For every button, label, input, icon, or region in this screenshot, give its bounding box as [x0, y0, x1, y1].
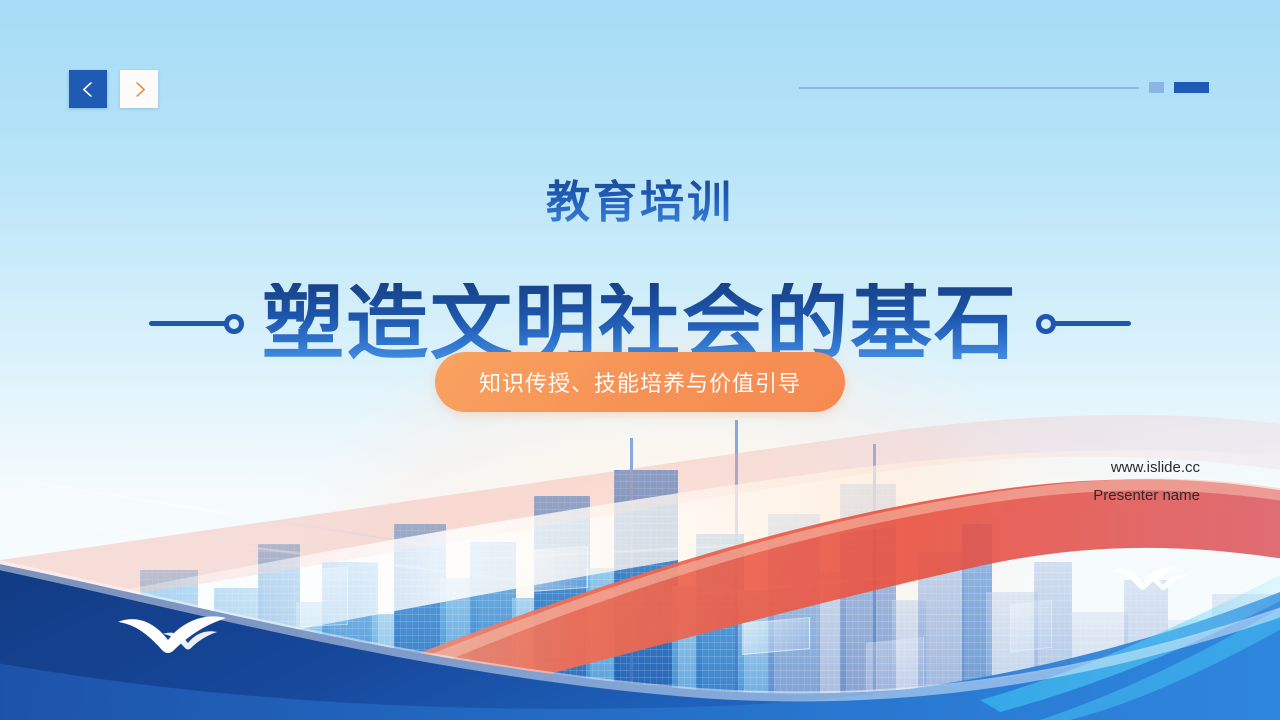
presenter-name: Presenter name: [1093, 481, 1200, 511]
decoration-right: [1036, 314, 1131, 334]
header-square-small: [1149, 82, 1164, 93]
slide-navigation: [69, 70, 158, 108]
chevron-right-icon: [132, 81, 147, 98]
header-rule-line: [799, 87, 1139, 89]
chevron-left-icon: [81, 81, 96, 98]
decoration-line-left: [149, 321, 227, 326]
slide-canvas: 教育培训 塑造文明社会的基石 知识传授、技能培养与价值引导 www.islide…: [0, 0, 1280, 720]
seagull-icon: [1138, 570, 1192, 594]
subtitle-badge: 知识传授、技能培养与价值引导: [435, 352, 845, 412]
seagull-icon: [158, 626, 222, 654]
eyebrow-title: 教育培训: [0, 166, 1280, 230]
next-slide-button[interactable]: [120, 70, 158, 108]
decoration-line-right: [1053, 321, 1131, 326]
header-square-large: [1174, 82, 1209, 93]
decoration-ring-left: [224, 314, 244, 334]
credits-block: www.islide.cc Presenter name: [1093, 455, 1200, 511]
previous-slide-button[interactable]: [69, 70, 107, 108]
decoration-left: [149, 314, 244, 334]
website-url: www.islide.cc: [1093, 455, 1200, 481]
header-rule-group: [799, 82, 1209, 93]
